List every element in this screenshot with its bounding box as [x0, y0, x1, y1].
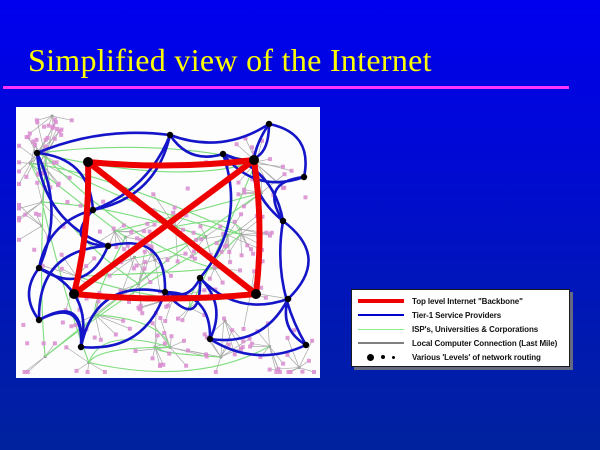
topology-svg	[16, 107, 320, 378]
tier1-line-icon	[357, 308, 405, 322]
legend-label-levels: Various 'Levels' of network routing	[412, 353, 541, 362]
backbone-line-icon	[357, 294, 405, 308]
legend-row-tier1: Tier-1 Service Providers	[352, 308, 569, 322]
slide-canvas: Simplified view of the Internet Top leve…	[0, 0, 600, 450]
legend-label-tier1: Tier-1 Service Providers	[412, 311, 501, 320]
diagram-background	[16, 107, 320, 378]
routing-dots-icon	[357, 350, 405, 364]
legend-row-backbone: Top level Internet "Backbone"	[352, 294, 569, 308]
title-underline-rule	[3, 86, 569, 89]
page-title: Simplified view of the Internet	[28, 40, 432, 80]
legend-row-isp: ISP's, Universities & Corporations	[352, 322, 569, 336]
legend-label-backbone: Top level Internet "Backbone"	[412, 297, 523, 306]
isp-line-icon	[357, 322, 405, 336]
legend-label-local: Local Computer Connection (Last Mile)	[412, 339, 557, 348]
internet-topology-diagram	[16, 107, 320, 378]
local-line-icon	[357, 336, 405, 350]
legend-label-isp: ISP's, Universities & Corporations	[412, 325, 538, 334]
legend-row-local: Local Computer Connection (Last Mile)	[352, 336, 569, 350]
legend-row-levels: Various 'Levels' of network routing	[352, 350, 569, 364]
title-block: Simplified view of the Internet	[0, 40, 600, 92]
legend-box: Top level Internet "Backbone" Tier-1 Ser…	[351, 289, 570, 367]
